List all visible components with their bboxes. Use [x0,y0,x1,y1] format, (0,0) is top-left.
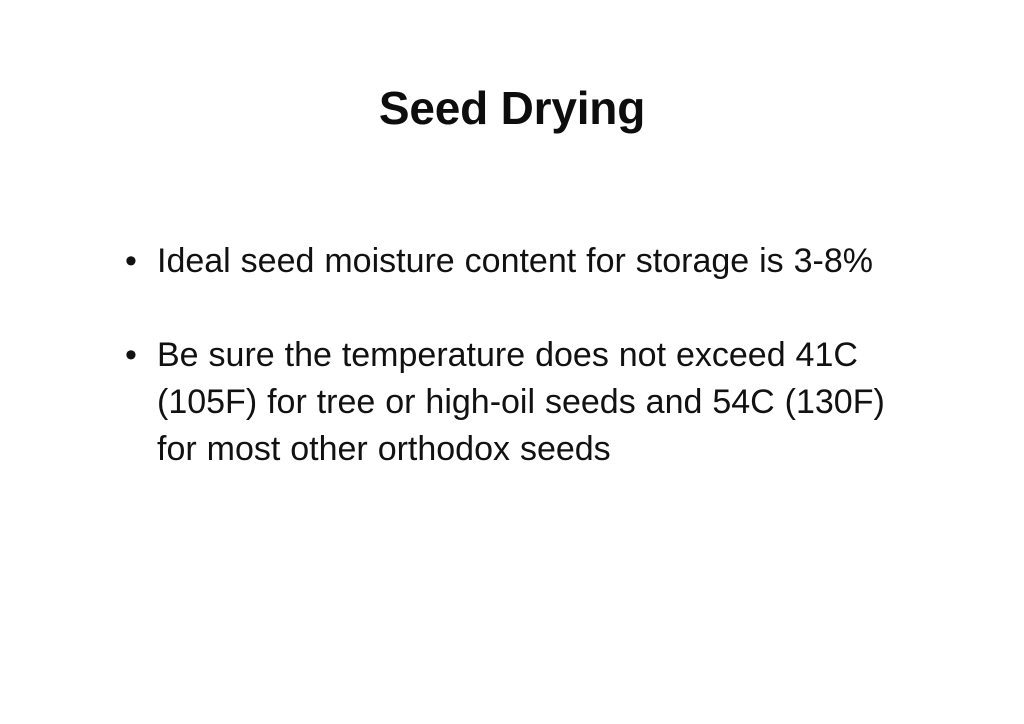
bullet-list: • Ideal seed moisture content for storag… [118,238,908,473]
slide-canvas: Seed Drying • Ideal seed moisture conten… [0,0,1024,724]
list-item: • Ideal seed moisture content for storag… [118,238,908,285]
bullet-point-icon: • [125,238,149,285]
paragraph-spacer [118,285,908,332]
list-item-text: Be sure the temperature does not exceed … [157,332,908,473]
bullet-point-icon: • [125,332,149,379]
list-item-text: Ideal seed moisture content for storage … [157,238,908,285]
page-title: Seed Drying [0,80,1024,136]
list-item: • Be sure the temperature does not excee… [118,332,908,473]
